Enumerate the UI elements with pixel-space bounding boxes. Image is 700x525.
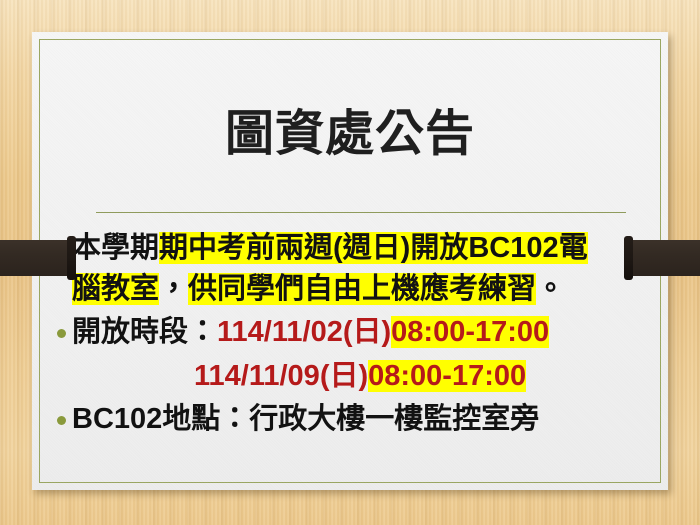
text-segment: 開放時段： xyxy=(72,316,217,348)
text-line: 本學期期中考前兩週(週日)開放BC102電 xyxy=(72,228,668,269)
ribbon-band xyxy=(628,240,700,276)
highlighted-text: 供同學們自由上機應考練習 xyxy=(188,273,536,305)
ribbon-end-cap xyxy=(67,236,76,280)
announcement-slide: 圖資處公告 本學期期中考前兩週(週日)開放BC102電腦教室，供同學們自由上機應… xyxy=(0,0,700,525)
decorative-ribbon-right xyxy=(622,240,700,276)
ribbon-band xyxy=(0,240,72,276)
highlighted-text: 08:00-17:00 xyxy=(368,360,526,392)
highlighted-text: 腦教室 xyxy=(72,273,159,305)
text-line: 114/11/09(日)08:00-17:00 xyxy=(194,356,668,397)
text-segment: BC102地點：行政大樓一樓監控室旁 xyxy=(72,403,539,435)
text-line: 開放時段：114/11/02(日)08:00-17:00 xyxy=(72,312,668,353)
bullet-open-hours: 開放時段：114/11/02(日)08:00-17:00 xyxy=(32,312,668,353)
bullet-dot-icon xyxy=(57,329,66,338)
announcement-card: 圖資處公告 本學期期中考前兩週(週日)開放BC102電腦教室，供同學們自由上機應… xyxy=(32,32,668,490)
title-divider xyxy=(96,212,626,213)
text-line: 腦教室，供同學們自由上機應考練習。 xyxy=(72,269,668,310)
announcement-body: 本學期期中考前兩週(週日)開放BC102電腦教室，供同學們自由上機應考練習。開放… xyxy=(32,228,668,442)
decorative-ribbon-left xyxy=(0,240,78,276)
text-segment: 。 xyxy=(536,273,565,305)
text-segment: ， xyxy=(159,273,188,305)
ribbon-end-cap xyxy=(624,236,633,280)
highlighted-text: 期中考前兩週(週日)開放BC102電 xyxy=(159,232,588,264)
page-title: 圖資處公告 xyxy=(32,110,668,159)
text-line: BC102地點：行政大樓一樓監控室旁 xyxy=(72,399,668,440)
text-segment: 114/11/02(日) xyxy=(217,316,391,348)
bullet-dot-icon xyxy=(57,416,66,425)
line-second-date: 114/11/09(日)08:00-17:00 xyxy=(32,356,668,397)
bullet-exam-practice: 本學期期中考前兩週(週日)開放BC102電腦教室，供同學們自由上機應考練習。 xyxy=(32,228,668,310)
highlighted-text: 08:00-17:00 xyxy=(391,316,549,348)
bullet-location: BC102地點：行政大樓一樓監控室旁 xyxy=(32,399,668,440)
text-segment: 114/11/09(日) xyxy=(194,360,368,392)
text-segment: 本學期 xyxy=(72,232,159,264)
